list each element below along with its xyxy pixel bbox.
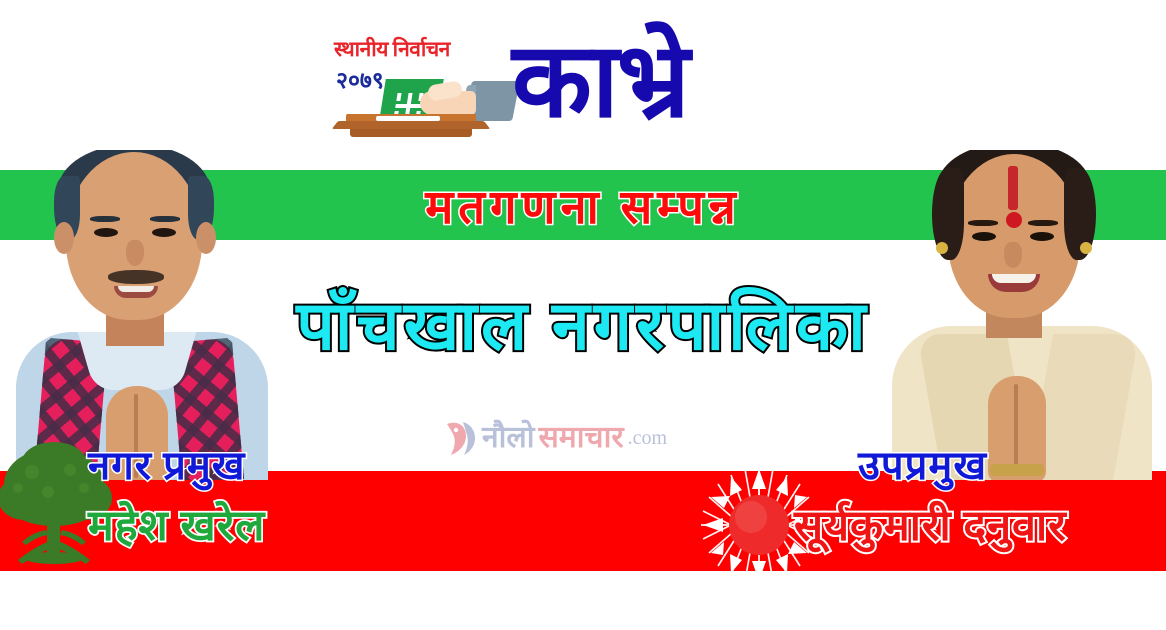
- district-title: काभ्रे: [512, 28, 688, 136]
- watermark-word2: समाचार: [539, 421, 624, 455]
- right-candidate-name: सूर्यकुमारी दनुवार: [794, 494, 1067, 553]
- right-candidate-role: उपप्रमुख: [858, 436, 987, 491]
- watermark-tld: .com: [628, 421, 667, 455]
- right-earring-left: [936, 242, 948, 254]
- municipality-title: पाँचखाल नगरपालिका: [0, 276, 1166, 369]
- left-candidate-role: नगर प्रमुख: [88, 436, 245, 491]
- status-band-text: मतगणना सम्पन्न: [0, 172, 1166, 238]
- right-wrist-band: [990, 464, 1044, 476]
- right-earring-right: [1080, 242, 1092, 254]
- watermark-word1: नौलो: [482, 421, 535, 455]
- election-logo-line1: स्थानीय निर्वाचन: [334, 35, 450, 63]
- left-candidate-name: महेश खरेल: [88, 494, 265, 553]
- bird-logo-icon: [444, 418, 478, 458]
- election-logo: स्थानीय निर्वाचन २०७९: [330, 33, 510, 145]
- right-nose: [1004, 242, 1022, 268]
- election-result-banner: स्थानीय निर्वाचन २०७९ काभ्रे मतगणना सम्: [0, 0, 1166, 630]
- ballot-box-icon: [336, 81, 508, 145]
- left-nose: [126, 240, 144, 266]
- ballot-box-base: [332, 121, 490, 129]
- watermark: नौलो समाचार .com: [444, 418, 667, 458]
